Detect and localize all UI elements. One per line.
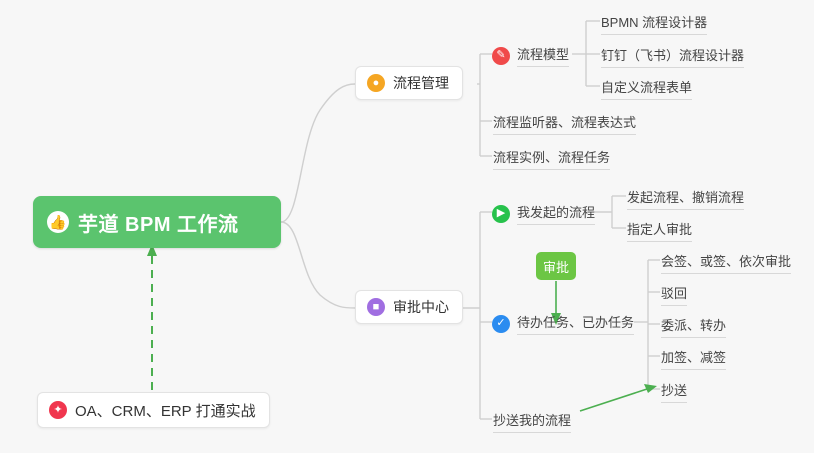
edit-circle-icon: ✎ [492,47,510,65]
node-todo-done-tasks-label: 待办任务、已办任务 [517,312,634,335]
leaf-listener-expression[interactable]: 流程监听器、流程表达式 [493,112,636,135]
mindmap-canvas: 👍 芋道 BPM 工作流 ● 流程管理 ✎ 流程模型 BPMN 流程设计器 钉钉… [0,0,814,453]
bottom-note-label: OA、CRM、ERP 打通实战 [75,400,256,421]
star-circle-icon: ✦ [49,401,67,419]
leaf-start-cancel-process[interactable]: 发起流程、撤销流程 [627,187,744,210]
node-todo-done-tasks[interactable]: ✓ 待办任务、已办任务 [492,312,634,335]
branch-approval-center-label: 审批中心 [393,297,449,317]
node-process-model[interactable]: ✎ 流程模型 [492,44,569,67]
leaf-instance-task[interactable]: 流程实例、流程任务 [493,147,610,170]
chat-circle-icon: ■ [367,298,385,316]
leaf-cc-to-me[interactable]: 抄送我的流程 [493,410,571,433]
approval-pill: 审批 [536,252,576,280]
node-my-initiated-label: 我发起的流程 [517,202,595,225]
leaf-assign-approver[interactable]: 指定人审批 [627,219,692,242]
leaf-add-remove-sign[interactable]: 加签、减签 [661,347,726,370]
leaf-delegate-transfer[interactable]: 委派、转办 [661,315,726,338]
flag-circle-icon: ▶ [492,205,510,223]
leaf-custom-form[interactable]: 自定义流程表单 [601,77,692,100]
leaf-reject[interactable]: 驳回 [661,283,687,306]
branch-process-management-label: 流程管理 [393,73,449,93]
leaf-bpmn-designer[interactable]: BPMN 流程设计器 [601,12,707,35]
leaf-dingtalk-designer[interactable]: 钉钉（飞书）流程设计器 [601,45,744,68]
leaf-cc[interactable]: 抄送 [661,380,687,403]
branch-process-management[interactable]: ● 流程管理 [355,66,463,100]
node-my-initiated[interactable]: ▶ 我发起的流程 [492,202,595,225]
bottom-note-card[interactable]: ✦ OA、CRM、ERP 打通实战 [37,392,270,428]
location-pin-icon: ● [367,74,385,92]
leaf-countersign[interactable]: 会签、或签、依次审批 [661,251,791,274]
thumbs-up-icon: 👍 [47,211,69,233]
root-node-label: 芋道 BPM 工作流 [78,208,239,237]
root-node[interactable]: 👍 芋道 BPM 工作流 [33,196,281,248]
node-process-model-label: 流程模型 [517,44,569,67]
check-circle-icon: ✓ [492,315,510,333]
branch-approval-center[interactable]: ■ 审批中心 [355,290,463,324]
